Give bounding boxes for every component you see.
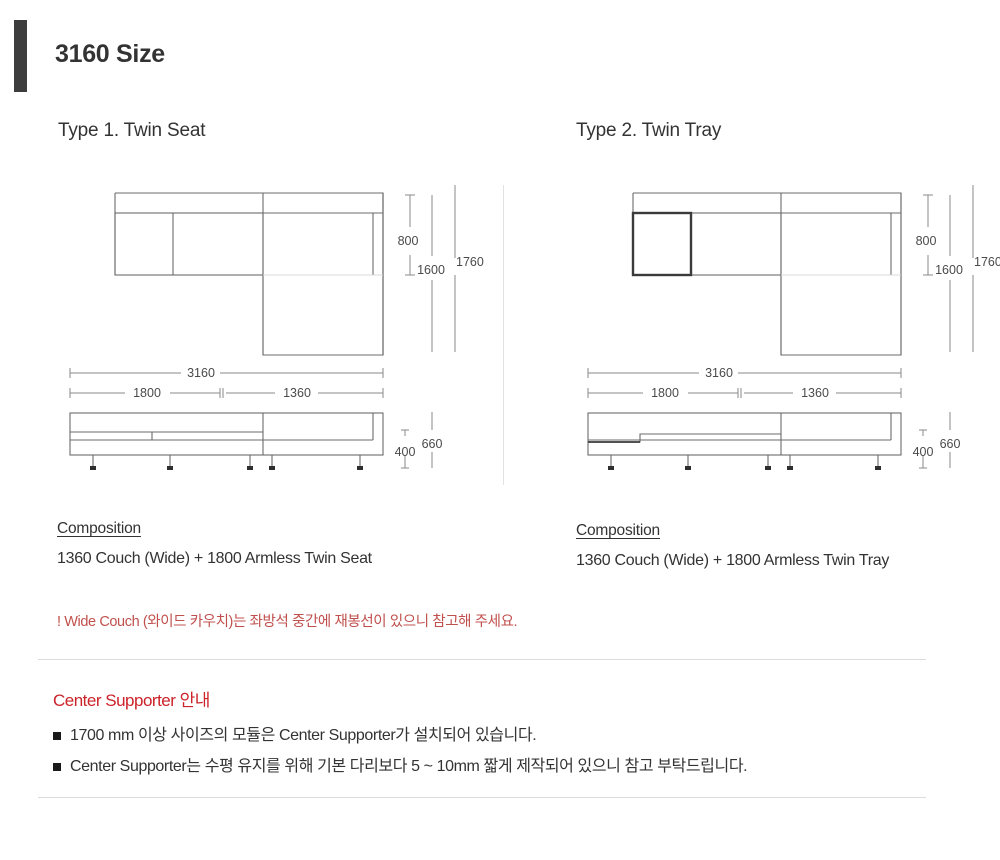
plan-dim-800: 800 [916, 234, 937, 248]
plan-dim-1760: 1760 [974, 255, 1000, 269]
elevation-legs [93, 455, 360, 468]
plan-dim-1600: 1600 [417, 263, 445, 277]
center-supporter-heading: Center Supporter 안내 [53, 686, 933, 711]
square-bullet-icon [53, 732, 61, 740]
square-bullet-icon [53, 763, 61, 771]
type-2-composition: Composition 1360 Couch (Wide) + 1800 Arm… [576, 522, 889, 570]
elev-dim-660: 660 [940, 437, 961, 451]
plan-dim-1360: 1360 [283, 386, 311, 400]
type-2-title: Type 2. Twin Tray [576, 120, 721, 142]
type-1-title: Type 1. Twin Seat [58, 120, 205, 142]
plan-horizontal-dimensions [70, 368, 383, 398]
plan-dim-1800: 1800 [651, 386, 679, 400]
column-divider [503, 185, 504, 485]
elev-dim-660: 660 [422, 437, 443, 451]
page-header: 3160 Size [0, 0, 1000, 110]
plan-dim-1800: 1800 [133, 386, 161, 400]
composition-body: 1360 Couch (Wide) + 1800 Armless Twin Tr… [576, 552, 889, 570]
center-supporter-item-text: 1700 mm 이상 사이즈의 모듈은 Center Supporter가 설치… [70, 726, 536, 745]
plan-horizontal-dimensions [588, 368, 901, 398]
title-accent-bar [14, 20, 27, 92]
plan-dim-3160: 3160 [187, 366, 215, 380]
elevation-leg-feet [608, 466, 881, 470]
center-supporter-item: Center Supporter는 수평 유지를 위해 기본 다리보다 5 ~ … [53, 757, 933, 776]
divider-rule-top [38, 659, 926, 660]
composition-heading: Composition [57, 520, 372, 538]
plan-dim-1360: 1360 [801, 386, 829, 400]
composition-heading: Composition [576, 522, 889, 540]
plan-dim-3160: 3160 [705, 366, 733, 380]
elevation-legs [611, 455, 878, 468]
divider-rule-bottom [38, 797, 926, 798]
type-1-diagram: 800 1600 1760 3160 1800 1360 [60, 180, 500, 490]
elevation-leg-feet [90, 466, 363, 470]
wide-couch-note: ! Wide Couch (와이드 카우치)는 좌방석 중간에 재봉선이 있으니… [57, 610, 517, 631]
plan-dim-800: 800 [398, 234, 419, 248]
plan-dim-1600: 1600 [935, 263, 963, 277]
elevation-view-outline [70, 413, 383, 455]
plan-view-outline [115, 193, 383, 355]
plan-dim-1760: 1760 [456, 255, 484, 269]
elev-dim-400: 400 [395, 445, 416, 459]
plan-tray-outline [633, 213, 691, 275]
elevation-view-outline [588, 413, 901, 455]
type-1-composition: Composition 1360 Couch (Wide) + 1800 Arm… [57, 520, 372, 568]
elev-dim-400: 400 [913, 445, 934, 459]
center-supporter-item-text: Center Supporter는 수평 유지를 위해 기본 다리보다 5 ~ … [70, 757, 747, 776]
type-2-diagram: 800 1600 1760 3160 1800 1360 [578, 180, 1000, 490]
page-title: 3160 Size [55, 40, 165, 69]
composition-body: 1360 Couch (Wide) + 1800 Armless Twin Se… [57, 550, 372, 568]
center-supporter-item: 1700 mm 이상 사이즈의 모듈은 Center Supporter가 설치… [53, 726, 933, 745]
center-supporter-section: Center Supporter 안내 1700 mm 이상 사이즈의 모듈은 … [53, 686, 933, 788]
